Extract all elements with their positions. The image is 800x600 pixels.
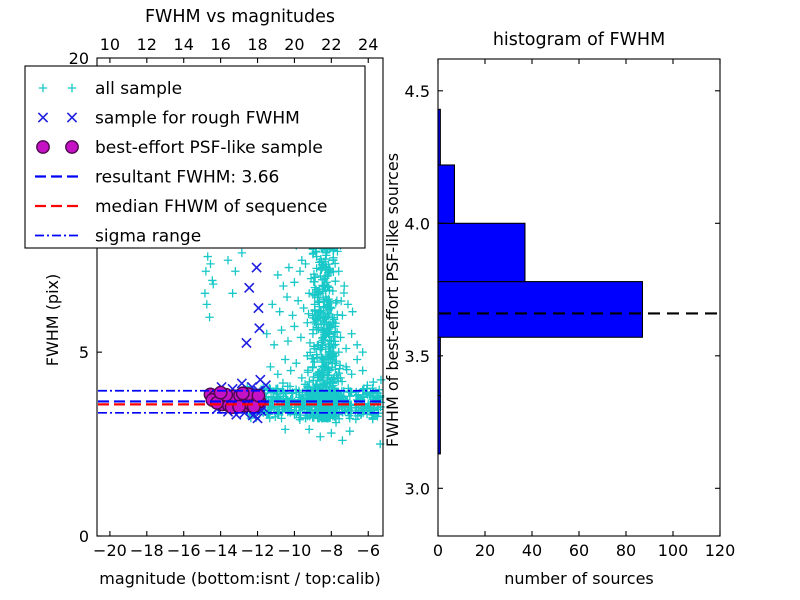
xtick-top-label: 14 (174, 35, 194, 54)
right-panel-histogram: 0204060801001203.03.54.04.5 histogram of… (383, 30, 735, 588)
xtick-top-label: 18 (247, 35, 267, 54)
xtick-top-label: 10 (100, 35, 120, 54)
hist-xtick-label: 80 (616, 541, 636, 560)
xtick-top-label: 20 (284, 35, 304, 54)
xtick-top-label: 24 (358, 35, 378, 54)
xtick-bottom-label: −12 (241, 541, 275, 560)
left-panel-xlabel: magnitude (bottom:isnt / top:calib) (99, 569, 380, 588)
ytick-label-top: 20 (69, 49, 89, 68)
hist-xtick-label: 120 (705, 541, 736, 560)
matplotlib-figure: −20−18−16−14−12−10−8−6101214161820222405… (0, 0, 800, 600)
xtick-bottom-label: −18 (130, 541, 164, 560)
right-panel-ylabel: FWHM of best-effort PSF-like sources (383, 153, 402, 447)
xtick-bottom-label: −6 (356, 541, 380, 560)
hist-ytick-label: 3.0 (405, 479, 430, 498)
ytick-label: 5 (79, 343, 89, 362)
histogram-bar (438, 165, 454, 223)
hist-xtick-label: 0 (433, 541, 443, 560)
scatter-marker-dot (214, 386, 226, 398)
hist-xtick-label: 60 (569, 541, 589, 560)
right-panel-xlabel: number of sources (504, 569, 654, 588)
legend: all samplesample for rough FWHMbest-effo… (25, 66, 365, 248)
legend-marker-dot (66, 141, 78, 153)
xtick-top-label: 12 (137, 35, 157, 54)
hist-ytick-label: 4.0 (405, 214, 430, 233)
legend-item-label: sample for rough FWHM (95, 109, 300, 129)
xtick-bottom-label: −14 (204, 541, 238, 560)
hist-ytick-label: 3.5 (405, 347, 430, 366)
hist-ytick-label: 4.5 (405, 82, 430, 101)
hist-xtick-label: 20 (475, 541, 495, 560)
legend-item-label: median FHWM of sequence (95, 197, 327, 217)
legend-item-label: best-effort PSF-like sample (95, 138, 323, 158)
left-panel-ylabel: FWHM (pix) (43, 274, 62, 367)
left-panel-title: FWHM vs magnitudes (145, 7, 335, 27)
xtick-bottom-label: −20 (93, 541, 127, 560)
xtick-bottom-label: −8 (320, 541, 344, 560)
xtick-top-label: 22 (321, 35, 341, 54)
legend-item-label: all sample (95, 79, 182, 99)
histogram-bar (438, 282, 642, 338)
figure-canvas: −20−18−16−14−12−10−8−6101214161820222405… (0, 0, 800, 600)
legend-item-label: resultant FWHM: 3.66 (95, 168, 279, 188)
ytick-label: 0 (79, 527, 89, 546)
histogram-bar (438, 223, 525, 281)
legend-marker-dot (37, 141, 49, 153)
right-panel-title: histogram of FWHM (493, 30, 665, 50)
xtick-bottom-label: −16 (167, 541, 201, 560)
hist-xtick-label: 100 (658, 541, 689, 560)
xtick-bottom-label: −10 (278, 541, 312, 560)
xtick-top-label: 16 (210, 35, 230, 54)
legend-item-label: sigma range (95, 227, 201, 247)
hist-xtick-label: 40 (522, 541, 542, 560)
scatter-marker-dot (237, 387, 249, 399)
